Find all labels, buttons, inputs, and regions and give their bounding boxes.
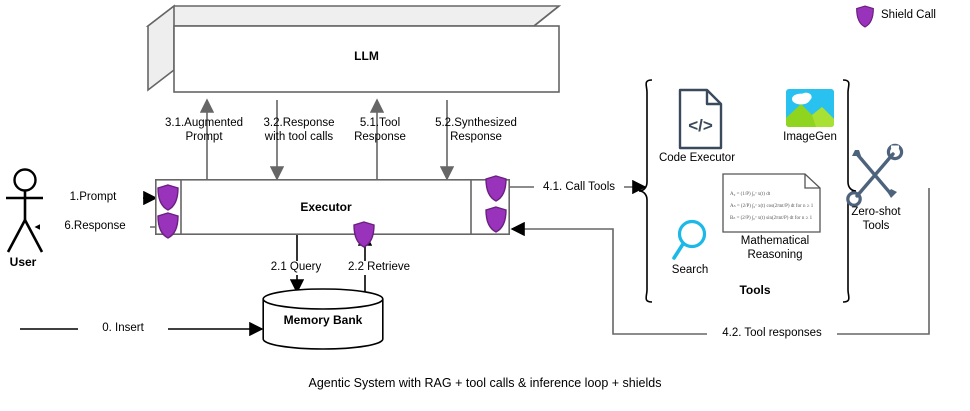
tool-mathematical-reasoning[interactable]: A₀ = (1/P) ∫₀ᵒ x(t) dt Aₙ = (2/P) ∫₀ᵒ x(… bbox=[712, 173, 838, 263]
tool-code-executor[interactable]: </> Code Executor bbox=[651, 88, 743, 164]
svg-text:Bₙ = (2/P) ∫₀ᵒ x(t) sin(2πnt/P: Bₙ = (2/P) ∫₀ᵒ x(t) sin(2πnt/P) dt for n… bbox=[730, 215, 813, 221]
tool-zero-shot-label: Zero-shot Tools bbox=[833, 206, 919, 233]
edge-label-prompt: 1.Prompt bbox=[43, 191, 143, 205]
tool-zero-shot[interactable]: Zero-shot Tools bbox=[833, 144, 919, 236]
legend-label: Shield Call bbox=[881, 9, 936, 23]
tool-imagegen-label: ImageGen bbox=[760, 131, 860, 145]
memory-bank-label: Memory Bank bbox=[262, 313, 384, 327]
edge-label-insert: 0. Insert bbox=[78, 322, 168, 336]
memory-bank-node[interactable]: Memory Bank bbox=[262, 288, 384, 350]
llm-node[interactable]: LLM bbox=[148, 4, 560, 96]
tool-code-executor-label: Code Executor bbox=[651, 152, 743, 166]
shield-icon-executor-out-right bbox=[484, 175, 508, 202]
executor-label: Executor bbox=[181, 200, 471, 214]
shield-icon-executor-in-right bbox=[484, 206, 508, 233]
shield-icon-executor-memory bbox=[352, 221, 376, 248]
edge-label-response: 6.Response bbox=[40, 220, 150, 234]
edge-label-tool-responses: 4.2. Tool responses bbox=[707, 327, 837, 341]
tool-search-label: Search bbox=[648, 264, 732, 278]
tools-group-label: Tools bbox=[700, 283, 810, 297]
executor-node[interactable]: Executor bbox=[155, 179, 510, 235]
shield-icon-executor-out-left bbox=[156, 212, 180, 239]
edge-label-query: 2.1 Query bbox=[256, 261, 336, 275]
user-node[interactable] bbox=[4, 168, 66, 258]
edge-label-call-tools: 4.1. Call Tools bbox=[534, 181, 624, 195]
svg-text:</>: </> bbox=[688, 116, 713, 135]
edge-label-tool-response: 5.1.Tool Response bbox=[337, 117, 423, 144]
user-label: User bbox=[0, 255, 46, 269]
shield-icon-legend bbox=[855, 5, 875, 28]
llm-label: LLM bbox=[174, 49, 559, 63]
edge-label-synthesized-response: 5.2.Synthesized Response bbox=[420, 117, 532, 144]
tool-mathematical-reasoning-label: Mathematical Reasoning bbox=[712, 235, 838, 262]
diagram-caption: Agentic System with RAG + tool calls & i… bbox=[0, 376, 970, 390]
legend: Shield Call bbox=[855, 4, 967, 28]
shield-icon-executor-in-left bbox=[156, 184, 180, 211]
tool-imagegen[interactable]: ImageGen bbox=[760, 88, 860, 150]
svg-text:A₀ = (1/P) ∫₀ᵒ x(t) dt: A₀ = (1/P) ∫₀ᵒ x(t) dt bbox=[730, 191, 771, 197]
edge-label-retrieve: 2.2 Retrieve bbox=[334, 261, 424, 275]
svg-text:Aₙ = (2/P) ∫₀ᵒ x(t) cos(2πnt/P: Aₙ = (2/P) ∫₀ᵒ x(t) cos(2πnt/P) dt for n… bbox=[730, 203, 814, 209]
